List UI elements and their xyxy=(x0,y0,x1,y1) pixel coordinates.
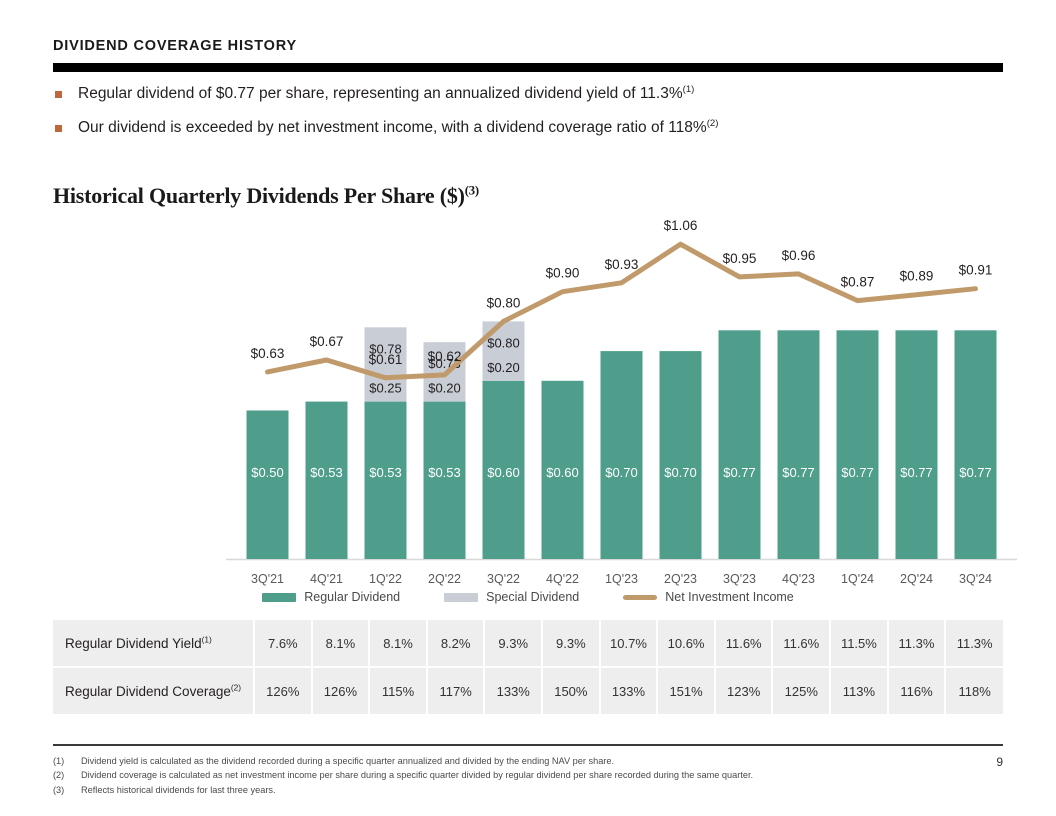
svg-text:$0.25: $0.25 xyxy=(369,381,402,396)
bullet-square-icon xyxy=(55,125,62,132)
footnote-item: (2)Dividend coverage is calculated as ne… xyxy=(53,768,953,782)
table-cell: 10.7% xyxy=(600,620,658,667)
svg-text:$0.77: $0.77 xyxy=(900,465,933,480)
footnote-text: Reflects historical dividends for last t… xyxy=(81,783,276,797)
table-cell: 113% xyxy=(830,667,888,714)
table-cell: 150% xyxy=(542,667,600,714)
svg-text:1Q'24: 1Q'24 xyxy=(841,572,874,586)
svg-text:$0.89: $0.89 xyxy=(900,269,934,284)
svg-text:$0.93: $0.93 xyxy=(605,257,639,272)
table-cell: 11.5% xyxy=(830,620,888,667)
svg-text:$0.77: $0.77 xyxy=(723,465,756,480)
chart-legend: Regular Dividend Special Dividend Net In… xyxy=(0,590,1056,604)
table-cell: 11.3% xyxy=(945,620,1003,667)
table-row-label: Regular Dividend Yield(1) xyxy=(53,620,254,667)
svg-text:$0.80: $0.80 xyxy=(487,295,521,310)
page-number: 9 xyxy=(996,755,1003,769)
svg-text:$0.20: $0.20 xyxy=(487,360,520,375)
table-cell: 115% xyxy=(369,667,427,714)
bullet-footnote-ref: (1) xyxy=(683,84,695,95)
table-cell: 9.3% xyxy=(484,620,542,667)
bullet-list: Regular dividend of $0.77 per share, rep… xyxy=(53,84,993,152)
footnote-text: Dividend yield is calculated as the divi… xyxy=(81,754,614,768)
table-cell: 118% xyxy=(945,667,1003,714)
svg-text:4Q'23: 4Q'23 xyxy=(782,572,815,586)
table-row: Regular Dividend Yield(1)7.6%8.1%8.1%8.2… xyxy=(53,620,1003,667)
legend-item-net-investment-income: Net Investment Income xyxy=(623,590,794,604)
svg-text:2Q'23: 2Q'23 xyxy=(664,572,697,586)
table-cell: 11.3% xyxy=(888,620,946,667)
svg-text:$0.70: $0.70 xyxy=(605,465,638,480)
svg-text:$0.63: $0.63 xyxy=(251,346,285,361)
svg-text:3Q'23: 3Q'23 xyxy=(723,572,756,586)
footnote-item: (1)Dividend yield is calculated as the d… xyxy=(53,754,953,768)
chart-title-footnote-ref: (3) xyxy=(465,184,479,198)
svg-text:$0.70: $0.70 xyxy=(664,465,697,480)
svg-text:3Q'24: 3Q'24 xyxy=(959,572,992,586)
footnote-item: (3)Reflects historical dividends for las… xyxy=(53,783,953,797)
svg-text:4Q'22: 4Q'22 xyxy=(546,572,579,586)
table-cell: 8.1% xyxy=(369,620,427,667)
footnote-number: (3) xyxy=(53,783,81,797)
metrics-table: Regular Dividend Yield(1)7.6%8.1%8.1%8.2… xyxy=(53,620,1003,714)
footnote-text: Dividend coverage is calculated as net i… xyxy=(81,768,753,782)
table-cell: 151% xyxy=(657,667,715,714)
table-cell: 7.6% xyxy=(254,620,312,667)
bullet-item: Our dividend is exceeded by net investme… xyxy=(53,118,993,139)
legend-label: Net Investment Income xyxy=(665,590,794,604)
svg-text:$0.53: $0.53 xyxy=(428,465,461,480)
bullet-footnote-ref: (2) xyxy=(707,118,719,129)
svg-text:1Q'23: 1Q'23 xyxy=(605,572,638,586)
svg-text:$0.96: $0.96 xyxy=(782,248,816,263)
svg-text:3Q'22: 3Q'22 xyxy=(487,572,520,586)
svg-text:$0.60: $0.60 xyxy=(546,465,579,480)
chart-svg: $0.50$0.53$0.78$0.25$0.53$0.73$0.20$0.53… xyxy=(40,215,1040,595)
legend-swatch-net-investment-income xyxy=(623,595,657,600)
svg-text:$0.77: $0.77 xyxy=(782,465,815,480)
legend-label: Regular Dividend xyxy=(304,590,400,604)
bullet-text: Regular dividend of $0.77 per share, rep… xyxy=(78,85,683,102)
table-cell: 125% xyxy=(772,667,830,714)
footnote-number: (1) xyxy=(53,754,81,768)
legend-swatch-special-dividend xyxy=(444,593,478,602)
table-cell: 117% xyxy=(427,667,485,714)
table-cell: 116% xyxy=(888,667,946,714)
svg-text:$0.77: $0.77 xyxy=(841,465,874,480)
table-row-label: Regular Dividend Coverage(2) xyxy=(53,667,254,714)
bullet-item: Regular dividend of $0.77 per share, rep… xyxy=(53,84,993,105)
legend-item-regular-dividend: Regular Dividend xyxy=(262,590,400,604)
svg-text:$0.87: $0.87 xyxy=(841,275,875,290)
svg-text:2Q'22: 2Q'22 xyxy=(428,572,461,586)
chart-title-text: Historical Quarterly Dividends Per Share… xyxy=(53,183,465,208)
table-cell: 133% xyxy=(600,667,658,714)
svg-text:$0.61: $0.61 xyxy=(369,352,403,367)
chart-title: Historical Quarterly Dividends Per Share… xyxy=(53,183,479,209)
svg-text:$0.62: $0.62 xyxy=(428,349,462,364)
svg-text:$0.80: $0.80 xyxy=(487,335,520,350)
table-cell: 8.1% xyxy=(312,620,370,667)
bullet-square-icon xyxy=(55,91,62,98)
footnote-number: (2) xyxy=(53,768,81,782)
table-row: Regular Dividend Coverage(2)126%126%115%… xyxy=(53,667,1003,714)
table-cell: 126% xyxy=(254,667,312,714)
svg-text:$0.60: $0.60 xyxy=(487,465,520,480)
svg-text:2Q'24: 2Q'24 xyxy=(900,572,933,586)
footer-divider xyxy=(53,744,1003,746)
table-cell: 11.6% xyxy=(715,620,773,667)
slide: DIVIDEND COVERAGE HISTORY Regular divide… xyxy=(0,0,1056,816)
table-cell: 9.3% xyxy=(542,620,600,667)
svg-text:$0.77: $0.77 xyxy=(959,465,992,480)
svg-text:1Q'22: 1Q'22 xyxy=(369,572,402,586)
legend-label: Special Dividend xyxy=(486,590,579,604)
table-cell: 11.6% xyxy=(772,620,830,667)
table-cell: 123% xyxy=(715,667,773,714)
svg-text:$0.53: $0.53 xyxy=(310,465,343,480)
header-divider xyxy=(53,63,1003,72)
table-cell: 10.6% xyxy=(657,620,715,667)
table-cell: 8.2% xyxy=(427,620,485,667)
svg-text:4Q'21: 4Q'21 xyxy=(310,572,343,586)
page-title: DIVIDEND COVERAGE HISTORY xyxy=(53,38,297,54)
table-cell: 133% xyxy=(484,667,542,714)
dividends-chart: $0.50$0.53$0.78$0.25$0.53$0.73$0.20$0.53… xyxy=(40,215,1040,595)
svg-text:3Q'21: 3Q'21 xyxy=(251,572,284,586)
svg-text:$0.20: $0.20 xyxy=(428,381,461,396)
svg-text:$0.90: $0.90 xyxy=(546,266,580,281)
bullet-text: Our dividend is exceeded by net investme… xyxy=(78,119,707,136)
svg-text:$0.67: $0.67 xyxy=(310,334,344,349)
footnotes: (1)Dividend yield is calculated as the d… xyxy=(53,754,953,797)
legend-swatch-regular-dividend xyxy=(262,593,296,602)
svg-text:$0.95: $0.95 xyxy=(723,251,757,266)
svg-text:$1.06: $1.06 xyxy=(664,218,698,233)
legend-item-special-dividend: Special Dividend xyxy=(444,590,579,604)
svg-text:$0.53: $0.53 xyxy=(369,465,402,480)
svg-text:$0.91: $0.91 xyxy=(959,263,993,278)
table-cell: 126% xyxy=(312,667,370,714)
svg-text:$0.50: $0.50 xyxy=(251,465,284,480)
